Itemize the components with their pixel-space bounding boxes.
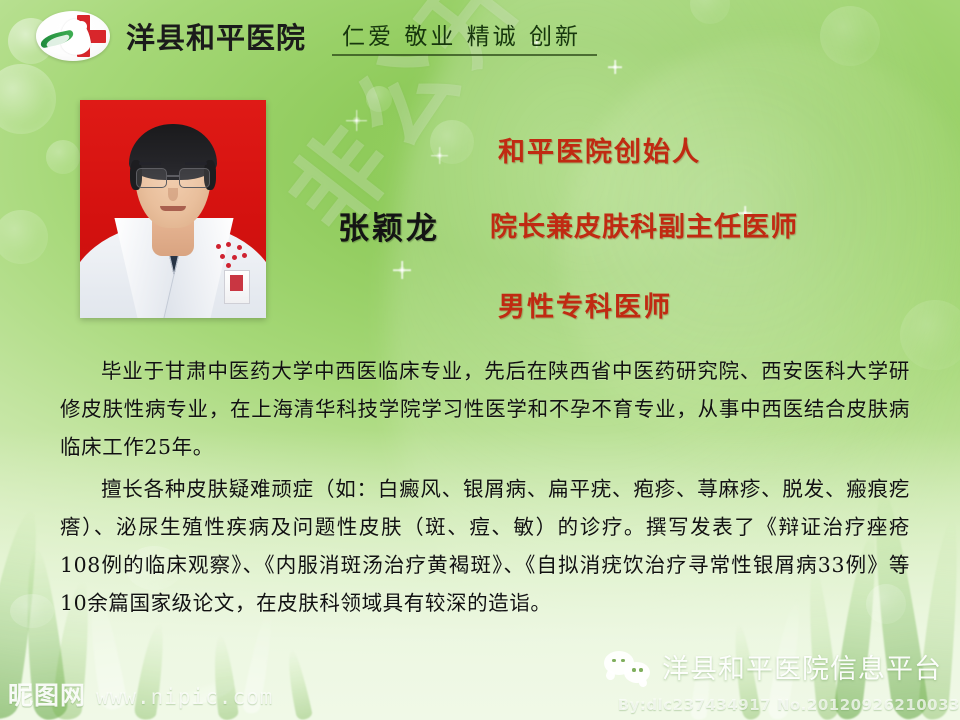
wechat-eye <box>639 668 643 672</box>
doctor-name: 张颖龙 <box>338 203 440 248</box>
wechat-eye <box>621 659 625 663</box>
biography-text: 毕业于甘肃中医药大学中西医临床专业，先后在陕西省中医药研究院、西安医科大学研修皮… <box>60 352 910 626</box>
platform-name: 洋县和平医院信息平台 <box>662 647 942 686</box>
hospital-slogan: 仁爱 敬业 精诚 创新 <box>342 17 581 51</box>
glasses-icon <box>135 168 211 187</box>
coat-emblem <box>214 242 248 268</box>
nose <box>168 188 178 201</box>
emblem-dot <box>242 253 247 258</box>
poster-canvas: 非公开 洋县和平医院 仁爱 敬业 精诚 创新 <box>0 0 960 720</box>
staff-id-card <box>224 270 250 304</box>
bokeh-circle <box>46 140 80 174</box>
glasses-bridge <box>166 175 180 177</box>
header-bar: 洋县和平医院 仁爱 敬业 精诚 创新 <box>0 0 960 72</box>
eyebrow-right <box>185 162 207 165</box>
footer-meta: By:dlc237434917 No.20120926210033 <box>618 696 960 714</box>
emblem-dot <box>226 263 231 268</box>
mouth <box>160 206 186 211</box>
specialty-title: 男性专科医师 <box>498 285 672 324</box>
footer-brand: 洋县和平医院信息平台 <box>604 647 942 686</box>
biography-paragraph-1: 毕业于甘肃中医药大学中西医临床专业，先后在陕西省中医药研究院、西安医科大学研修皮… <box>60 352 910 466</box>
bokeh-circle <box>366 86 392 112</box>
doctor-photo <box>80 100 266 318</box>
biography-paragraph-2: 擅长各种皮肤疑难顽症（如：白癜风、银屑病、扁平疣、疱疹、荨麻疹、脱发、瘢痕疙瘩）… <box>60 470 910 622</box>
slogan-underline <box>332 54 597 56</box>
founder-title: 和平医院创始人 <box>498 130 701 169</box>
sparkle <box>436 152 443 159</box>
sparkle <box>352 116 361 125</box>
eyebrow-left <box>139 162 161 165</box>
emblem-dot <box>216 244 221 249</box>
role-title: 院长兼皮肤科副主任医师 <box>490 205 798 244</box>
glasses-lens-right <box>179 168 210 188</box>
wechat-eye <box>612 659 616 663</box>
hospital-name: 洋县和平医院 <box>126 15 306 57</box>
glasses-lens-left <box>136 168 167 188</box>
wechat-bubble-small <box>624 662 650 683</box>
emblem-dot <box>232 255 237 260</box>
slogan-block: 仁爱 敬业 精诚 创新 <box>342 17 581 56</box>
bokeh-circle <box>10 594 54 628</box>
hospital-logo-icon <box>36 11 110 61</box>
emblem-dot <box>226 242 231 247</box>
emblem-dot <box>220 254 225 259</box>
wechat-eye <box>632 668 636 672</box>
emblem-dot <box>237 245 242 250</box>
sparkle <box>398 266 406 274</box>
wechat-icon <box>604 651 650 683</box>
id-card-photo <box>230 275 243 291</box>
logo-oval-shape <box>36 11 110 61</box>
dove-head-icon <box>76 21 87 32</box>
